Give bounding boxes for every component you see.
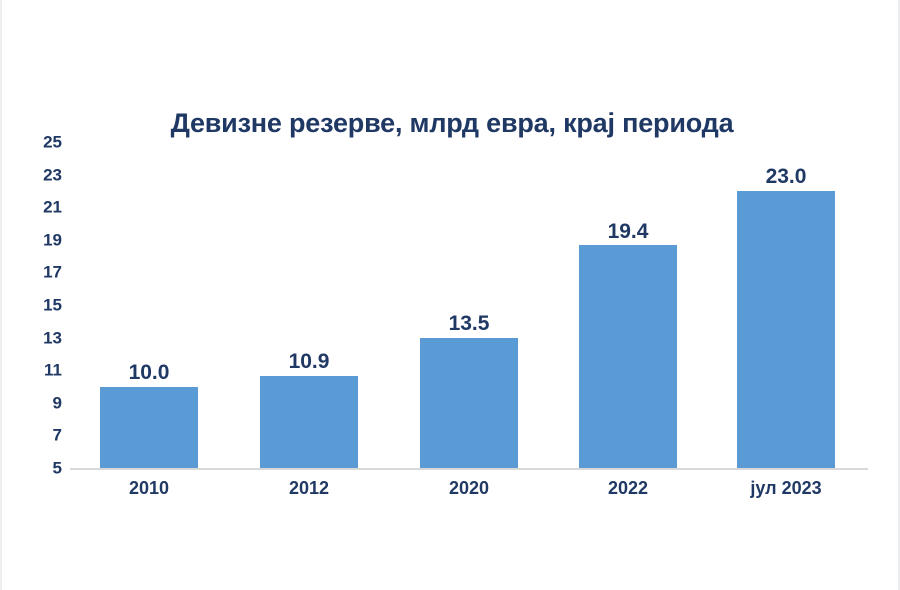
plot-area: 25 23 21 19 17 15 13 11 9 7 5 10.0 10.9 … <box>2 0 900 590</box>
x-axis-tick-label: јул 2023 <box>732 479 840 497</box>
bar-2012[interactable] <box>260 376 358 468</box>
y-axis-tick-label: 7 <box>2 427 62 444</box>
x-axis-tick-label: 2020 <box>420 479 518 497</box>
bar-value-label: 10.0 <box>100 362 198 383</box>
bar-2010[interactable] <box>100 387 198 469</box>
y-axis-tick-label: 11 <box>2 362 62 379</box>
y-axis-tick-label: 25 <box>2 134 62 151</box>
chart-canvas: Девизне резерве, млрд евра, крај периода… <box>0 0 900 590</box>
bar-2022[interactable] <box>579 245 677 468</box>
x-axis-line <box>70 468 868 470</box>
bar-value-label: 23.0 <box>737 166 835 187</box>
x-axis-tick-label: 2010 <box>100 479 198 497</box>
bar-jul-2023[interactable] <box>737 191 835 468</box>
x-axis-tick-label: 2022 <box>579 479 677 497</box>
bar-2020[interactable] <box>420 338 518 468</box>
y-axis-tick-label: 5 <box>2 460 62 477</box>
y-axis-tick-label: 9 <box>2 394 62 411</box>
y-axis-tick-label: 17 <box>2 264 62 281</box>
bar-value-label: 10.9 <box>260 351 358 372</box>
x-axis-tick-label: 2012 <box>260 479 358 497</box>
y-axis-tick-label: 13 <box>2 329 62 346</box>
bar-value-label: 13.5 <box>420 313 518 334</box>
y-axis-tick-label: 15 <box>2 297 62 314</box>
y-axis-tick-label: 21 <box>2 199 62 216</box>
bar-value-label: 19.4 <box>579 221 677 242</box>
y-axis-tick-label: 23 <box>2 166 62 183</box>
y-axis-tick-label: 19 <box>2 231 62 248</box>
